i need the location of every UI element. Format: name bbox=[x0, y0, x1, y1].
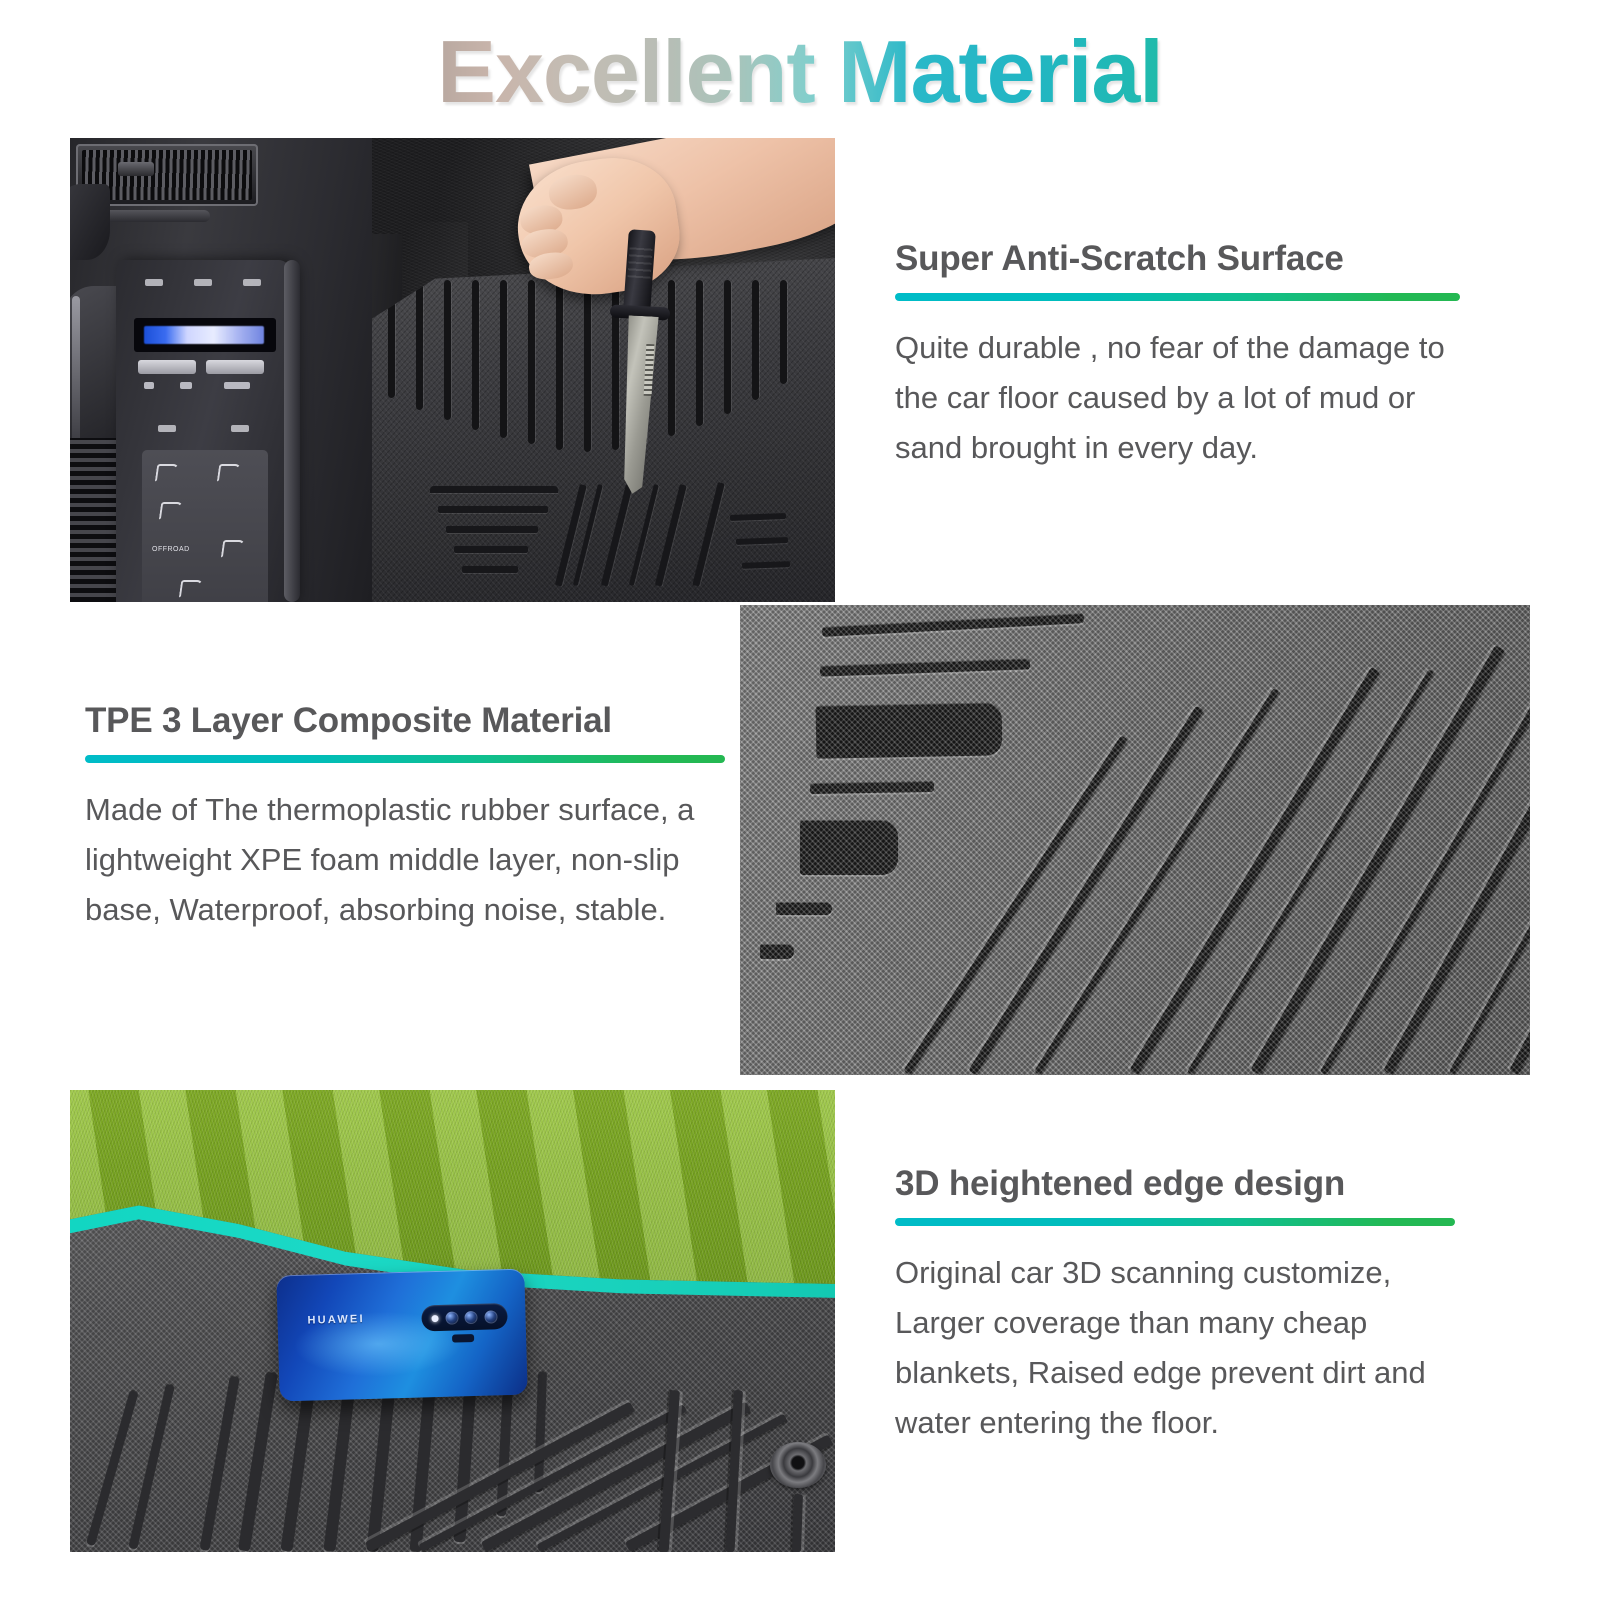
heading-underline bbox=[85, 755, 725, 763]
phone-brand-label: HUAWEI bbox=[307, 1313, 365, 1327]
mat-mesh-texture bbox=[740, 605, 1530, 1075]
center-console: OFFROAD bbox=[116, 260, 292, 602]
knife-handle bbox=[623, 229, 656, 313]
console-mid-button-row bbox=[130, 420, 276, 436]
seat-heat-icon bbox=[156, 464, 178, 482]
steering-wheel bbox=[70, 184, 110, 260]
mat-lower-emboss-pattern bbox=[430, 480, 810, 592]
camera-lens-icon bbox=[465, 1310, 478, 1323]
photo-knife-scratch-test: OFFROAD bbox=[70, 138, 835, 602]
mat-rib-channels bbox=[380, 280, 820, 456]
smartphone-on-mat: HUAWEI bbox=[276, 1269, 527, 1402]
console-top-button-row bbox=[130, 274, 276, 290]
floor-mat-surface bbox=[370, 258, 835, 602]
heading-underline bbox=[895, 293, 1460, 301]
speaker-grille bbox=[70, 438, 118, 602]
feature-body: Made of The thermoplastic rubber surface… bbox=[85, 785, 710, 936]
heading-underline bbox=[895, 1218, 1455, 1226]
car-dashboard: OFFROAD bbox=[70, 138, 372, 602]
feature-body: Original car 3D scanning customize, Larg… bbox=[895, 1248, 1465, 1449]
offroad-label: OFFROAD bbox=[152, 546, 190, 553]
climate-slider-controls bbox=[138, 360, 272, 394]
feature-body: Quite durable , no fear of the damage to… bbox=[895, 323, 1485, 474]
lumbar-icon bbox=[180, 580, 202, 598]
feature-block-anti-scratch: Super Anti-Scratch Surface Quite durable… bbox=[895, 240, 1485, 473]
seat-vent-icon bbox=[218, 464, 240, 482]
feature-heading: Super Anti-Scratch Surface bbox=[895, 240, 1485, 279]
camera-sensor-icon bbox=[452, 1334, 474, 1343]
photo-macro-texture bbox=[740, 605, 1530, 1075]
console-trim-rail bbox=[284, 260, 300, 602]
infographic-page: Excellent Material bbox=[0, 0, 1600, 1600]
camera-lens-icon bbox=[484, 1310, 497, 1323]
feature-block-tpe-composite: TPE 3 Layer Composite Material Made of T… bbox=[85, 702, 725, 935]
feature-heading: 3D heightened edge design bbox=[895, 1165, 1475, 1204]
feature-block-3d-edge: 3D heightened edge design Original car 3… bbox=[895, 1165, 1475, 1448]
vent-knob-icon bbox=[118, 162, 154, 176]
mat-anchor-grommet bbox=[770, 1442, 826, 1488]
page-title: Excellent Material bbox=[0, 26, 1600, 118]
climate-display bbox=[134, 318, 276, 352]
seat-control-panel: OFFROAD bbox=[142, 450, 268, 602]
seat-massage-icon bbox=[222, 540, 244, 558]
seat-recline-icon bbox=[160, 502, 182, 520]
camera-flash-icon bbox=[432, 1314, 439, 1321]
camera-lens-icon bbox=[445, 1311, 458, 1324]
camera-module-icon bbox=[421, 1303, 508, 1331]
feature-heading: TPE 3 Layer Composite Material bbox=[85, 702, 725, 741]
